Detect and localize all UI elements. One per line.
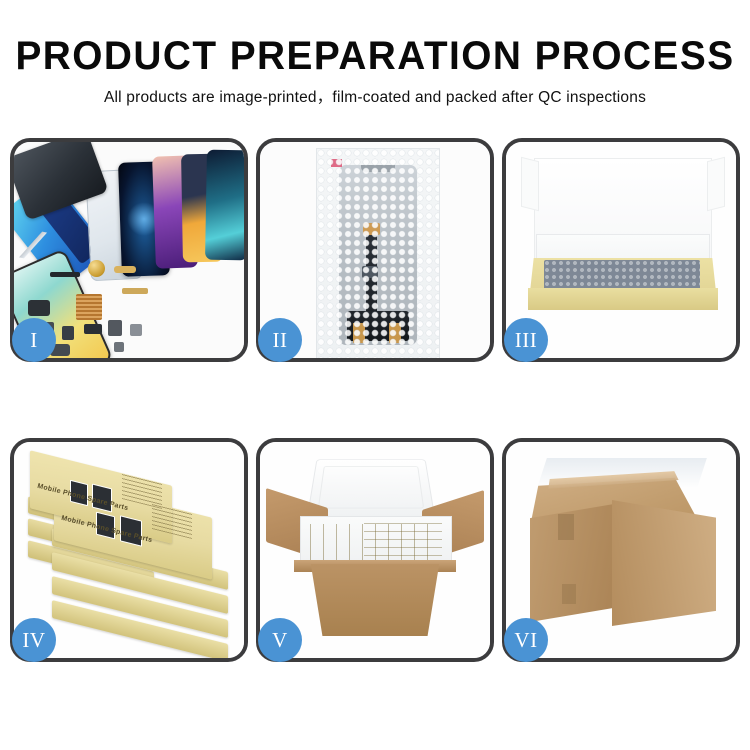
- battery-connector-icon: [108, 320, 122, 336]
- header: PRODUCT PREPARATION PROCESS All products…: [0, 0, 750, 109]
- step-panel-4: Mobile Phone Spare Parts Mobile Phone Sp…: [10, 438, 248, 662]
- inner-boxes-row-2-icon: [364, 522, 442, 564]
- step-panel-2: II: [256, 138, 494, 362]
- flex-cable-part-icon: [50, 272, 80, 277]
- step-panel-5: V: [256, 438, 494, 662]
- bubble-texture-icon: [317, 149, 439, 358]
- step-badge-6: VI: [504, 618, 548, 662]
- teal-screen-icon: [205, 150, 244, 261]
- taptic-coil-icon: [88, 260, 105, 277]
- kraft-box-stack-icon: Mobile Phone Spare Parts Mobile Phone Sp…: [24, 464, 240, 650]
- step-panel-1: I: [10, 138, 248, 362]
- page-title: PRODUCT PREPARATION PROCESS: [11, 34, 739, 78]
- carton-handle-tab-upper-icon: [558, 514, 574, 540]
- gold-flex-part-icon: [122, 288, 148, 294]
- product-preparation-infographic: PRODUCT PREPARATION PROCESS All products…: [0, 0, 750, 750]
- module-part-icon: [28, 300, 50, 316]
- process-steps-grid: I II: [10, 138, 740, 662]
- step-badge-2: II: [258, 318, 302, 362]
- carton-handle-tab-lower-icon: [562, 584, 576, 604]
- metal-bracket-icon: [130, 324, 142, 336]
- sealed-carton-right-face-icon: [612, 500, 716, 626]
- copper-grid-part-icon: [76, 294, 102, 320]
- step-badge-3: III: [504, 318, 548, 362]
- gold-connector-part-icon: [114, 266, 136, 273]
- step-badge-4: IV: [12, 618, 56, 662]
- step-badge-1: I: [12, 318, 56, 362]
- page-subtitle: All products are image-printed，film-coat…: [0, 87, 750, 109]
- screw-plate-icon: [114, 342, 124, 352]
- step-panel-3: III: [502, 138, 740, 362]
- camera-part-icon: [84, 324, 102, 334]
- step-panel-6: VI: [502, 438, 740, 662]
- carton-front-icon: [302, 564, 448, 636]
- step-badge-5: V: [258, 618, 302, 662]
- speaker-part-icon: [62, 326, 74, 340]
- bubble-wrap-bag-icon: [316, 148, 440, 358]
- kraft-box-front-icon: [528, 288, 718, 310]
